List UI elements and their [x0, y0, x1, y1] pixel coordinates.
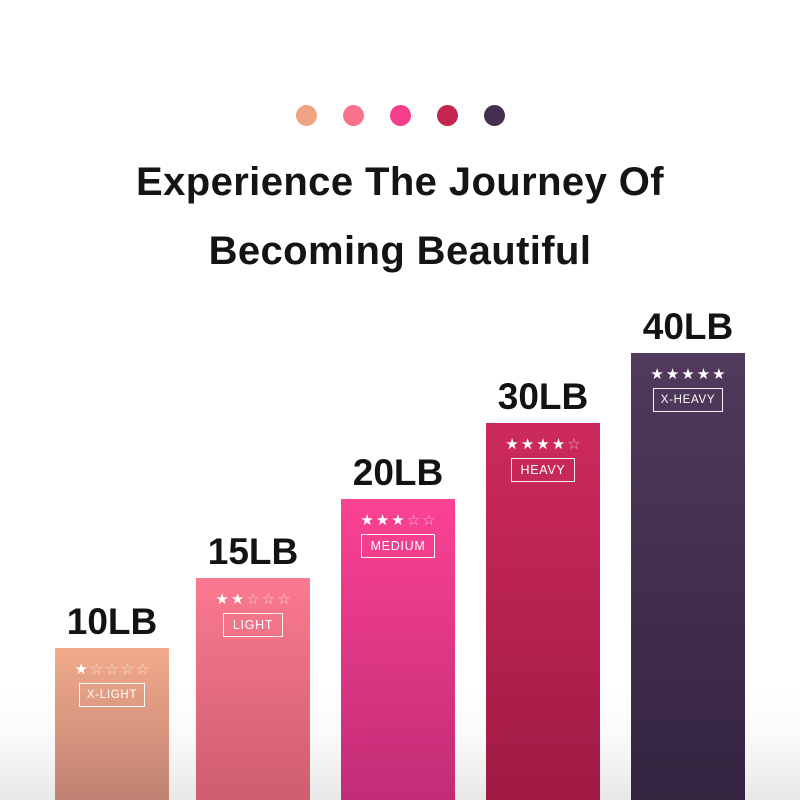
star-rating: ★★☆☆☆	[215, 592, 290, 607]
bar-badge-group: ★★☆☆☆LIGHT	[196, 578, 310, 637]
bar-column-10lb[interactable]: 10LB★☆☆☆☆X-LIGHT	[55, 600, 169, 800]
star-filled-icon: ★	[391, 513, 404, 528]
star-filled-icon: ★	[231, 592, 244, 607]
star-filled-icon: ★	[521, 437, 534, 452]
resistance-band-bar-chart: 10LB★☆☆☆☆X-LIGHT15LB★★☆☆☆LIGHT20LB★★★☆☆M…	[0, 0, 800, 800]
star-empty-icon: ☆	[121, 662, 134, 677]
star-rating: ★☆☆☆☆	[74, 662, 149, 677]
bar-weight-label: 15LB	[208, 532, 298, 572]
bar-rect[interactable]: ★☆☆☆☆X-LIGHT	[55, 648, 169, 800]
bar-column-30lb[interactable]: 30LB★★★★☆HEAVY	[486, 375, 600, 800]
star-rating: ★★★★☆	[505, 437, 580, 452]
bar-column-20lb[interactable]: 20LB★★★☆☆MEDIUM	[341, 451, 455, 800]
star-filled-icon: ★	[215, 592, 228, 607]
resistance-level-tag: MEDIUM	[361, 534, 436, 558]
resistance-level-tag: X-LIGHT	[79, 683, 145, 707]
bar-badge-group: ★★★☆☆MEDIUM	[341, 499, 455, 558]
star-filled-icon: ★	[552, 437, 565, 452]
star-filled-icon: ★	[505, 437, 518, 452]
star-filled-icon: ★	[74, 662, 87, 677]
bar-rect[interactable]: ★★☆☆☆LIGHT	[196, 578, 310, 800]
star-filled-icon: ★	[681, 367, 694, 382]
star-filled-icon: ★	[666, 367, 679, 382]
star-empty-icon: ☆	[422, 513, 435, 528]
star-empty-icon: ☆	[407, 513, 420, 528]
bar-weight-label: 20LB	[353, 453, 443, 493]
bar-column-15lb[interactable]: 15LB★★☆☆☆LIGHT	[196, 530, 310, 800]
star-filled-icon: ★	[650, 367, 663, 382]
star-rating: ★★★☆☆	[360, 513, 435, 528]
bar-rect[interactable]: ★★★★★X-HEAVY	[631, 353, 745, 800]
star-empty-icon: ☆	[105, 662, 118, 677]
bar-weight-label: 30LB	[498, 377, 588, 417]
star-empty-icon: ☆	[567, 437, 580, 452]
bar-weight-label: 40LB	[643, 307, 733, 347]
star-filled-icon: ★	[360, 513, 373, 528]
bar-rect[interactable]: ★★★★☆HEAVY	[486, 423, 600, 800]
star-rating: ★★★★★	[650, 367, 725, 382]
star-empty-icon: ☆	[90, 662, 103, 677]
bar-weight-label: 10LB	[67, 602, 157, 642]
star-filled-icon: ★	[376, 513, 389, 528]
infographic-page: Experience The Journey Of Becoming Beaut…	[0, 0, 800, 800]
resistance-level-tag: HEAVY	[511, 458, 576, 482]
star-filled-icon: ★	[536, 437, 549, 452]
bar-column-40lb[interactable]: 40LB★★★★★X-HEAVY	[631, 305, 745, 800]
bar-badge-group: ★★★★★X-HEAVY	[631, 353, 745, 412]
star-filled-icon: ★	[697, 367, 710, 382]
star-filled-icon: ★	[712, 367, 725, 382]
star-empty-icon: ☆	[262, 592, 275, 607]
bar-rect[interactable]: ★★★☆☆MEDIUM	[341, 499, 455, 800]
resistance-level-tag: X-HEAVY	[653, 388, 724, 412]
bar-badge-group: ★★★★☆HEAVY	[486, 423, 600, 482]
star-empty-icon: ☆	[136, 662, 149, 677]
resistance-level-tag: LIGHT	[223, 613, 283, 637]
star-empty-icon: ☆	[246, 592, 259, 607]
star-empty-icon: ☆	[277, 592, 290, 607]
bar-badge-group: ★☆☆☆☆X-LIGHT	[55, 648, 169, 707]
